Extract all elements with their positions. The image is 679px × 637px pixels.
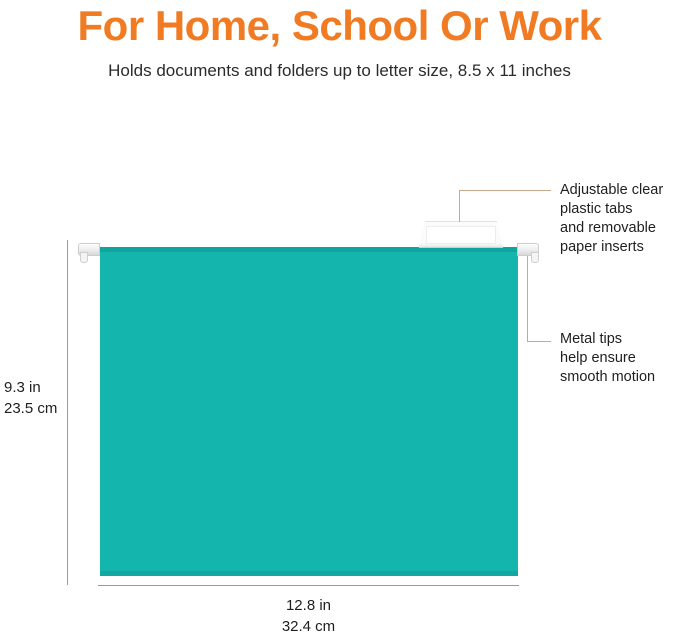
height-dimension-line — [67, 240, 68, 585]
page-title: For Home, School Or Work — [0, 0, 679, 52]
leader-line-tabs-vertical — [459, 190, 460, 222]
hanging-file-folder — [100, 247, 518, 576]
page-subtitle: Holds documents and folders up to letter… — [0, 59, 679, 83]
width-dimension-line — [98, 585, 519, 586]
metal-tip-left-hook-icon — [80, 252, 88, 263]
height-dimension-label: 9.3 in 23.5 cm — [4, 377, 62, 419]
paper-insert-icon — [426, 226, 496, 244]
leader-line-tabs-horizontal — [459, 190, 551, 191]
product-infographic: For Home, School Or Work Holds documents… — [0, 0, 679, 634]
leader-line-metal-vertical — [527, 256, 528, 341]
callout-adjustable-tabs: Adjustable clear plastic tabs and remova… — [560, 181, 663, 257]
leader-line-metal-horizontal — [527, 341, 551, 342]
folder-bottom-edge — [100, 571, 518, 576]
metal-tip-right-hook-icon — [531, 252, 539, 263]
width-dimension-label: 12.8 in 32.4 cm — [98, 595, 519, 637]
callout-metal-tips: Metal tips help ensure smooth motion — [560, 330, 655, 387]
